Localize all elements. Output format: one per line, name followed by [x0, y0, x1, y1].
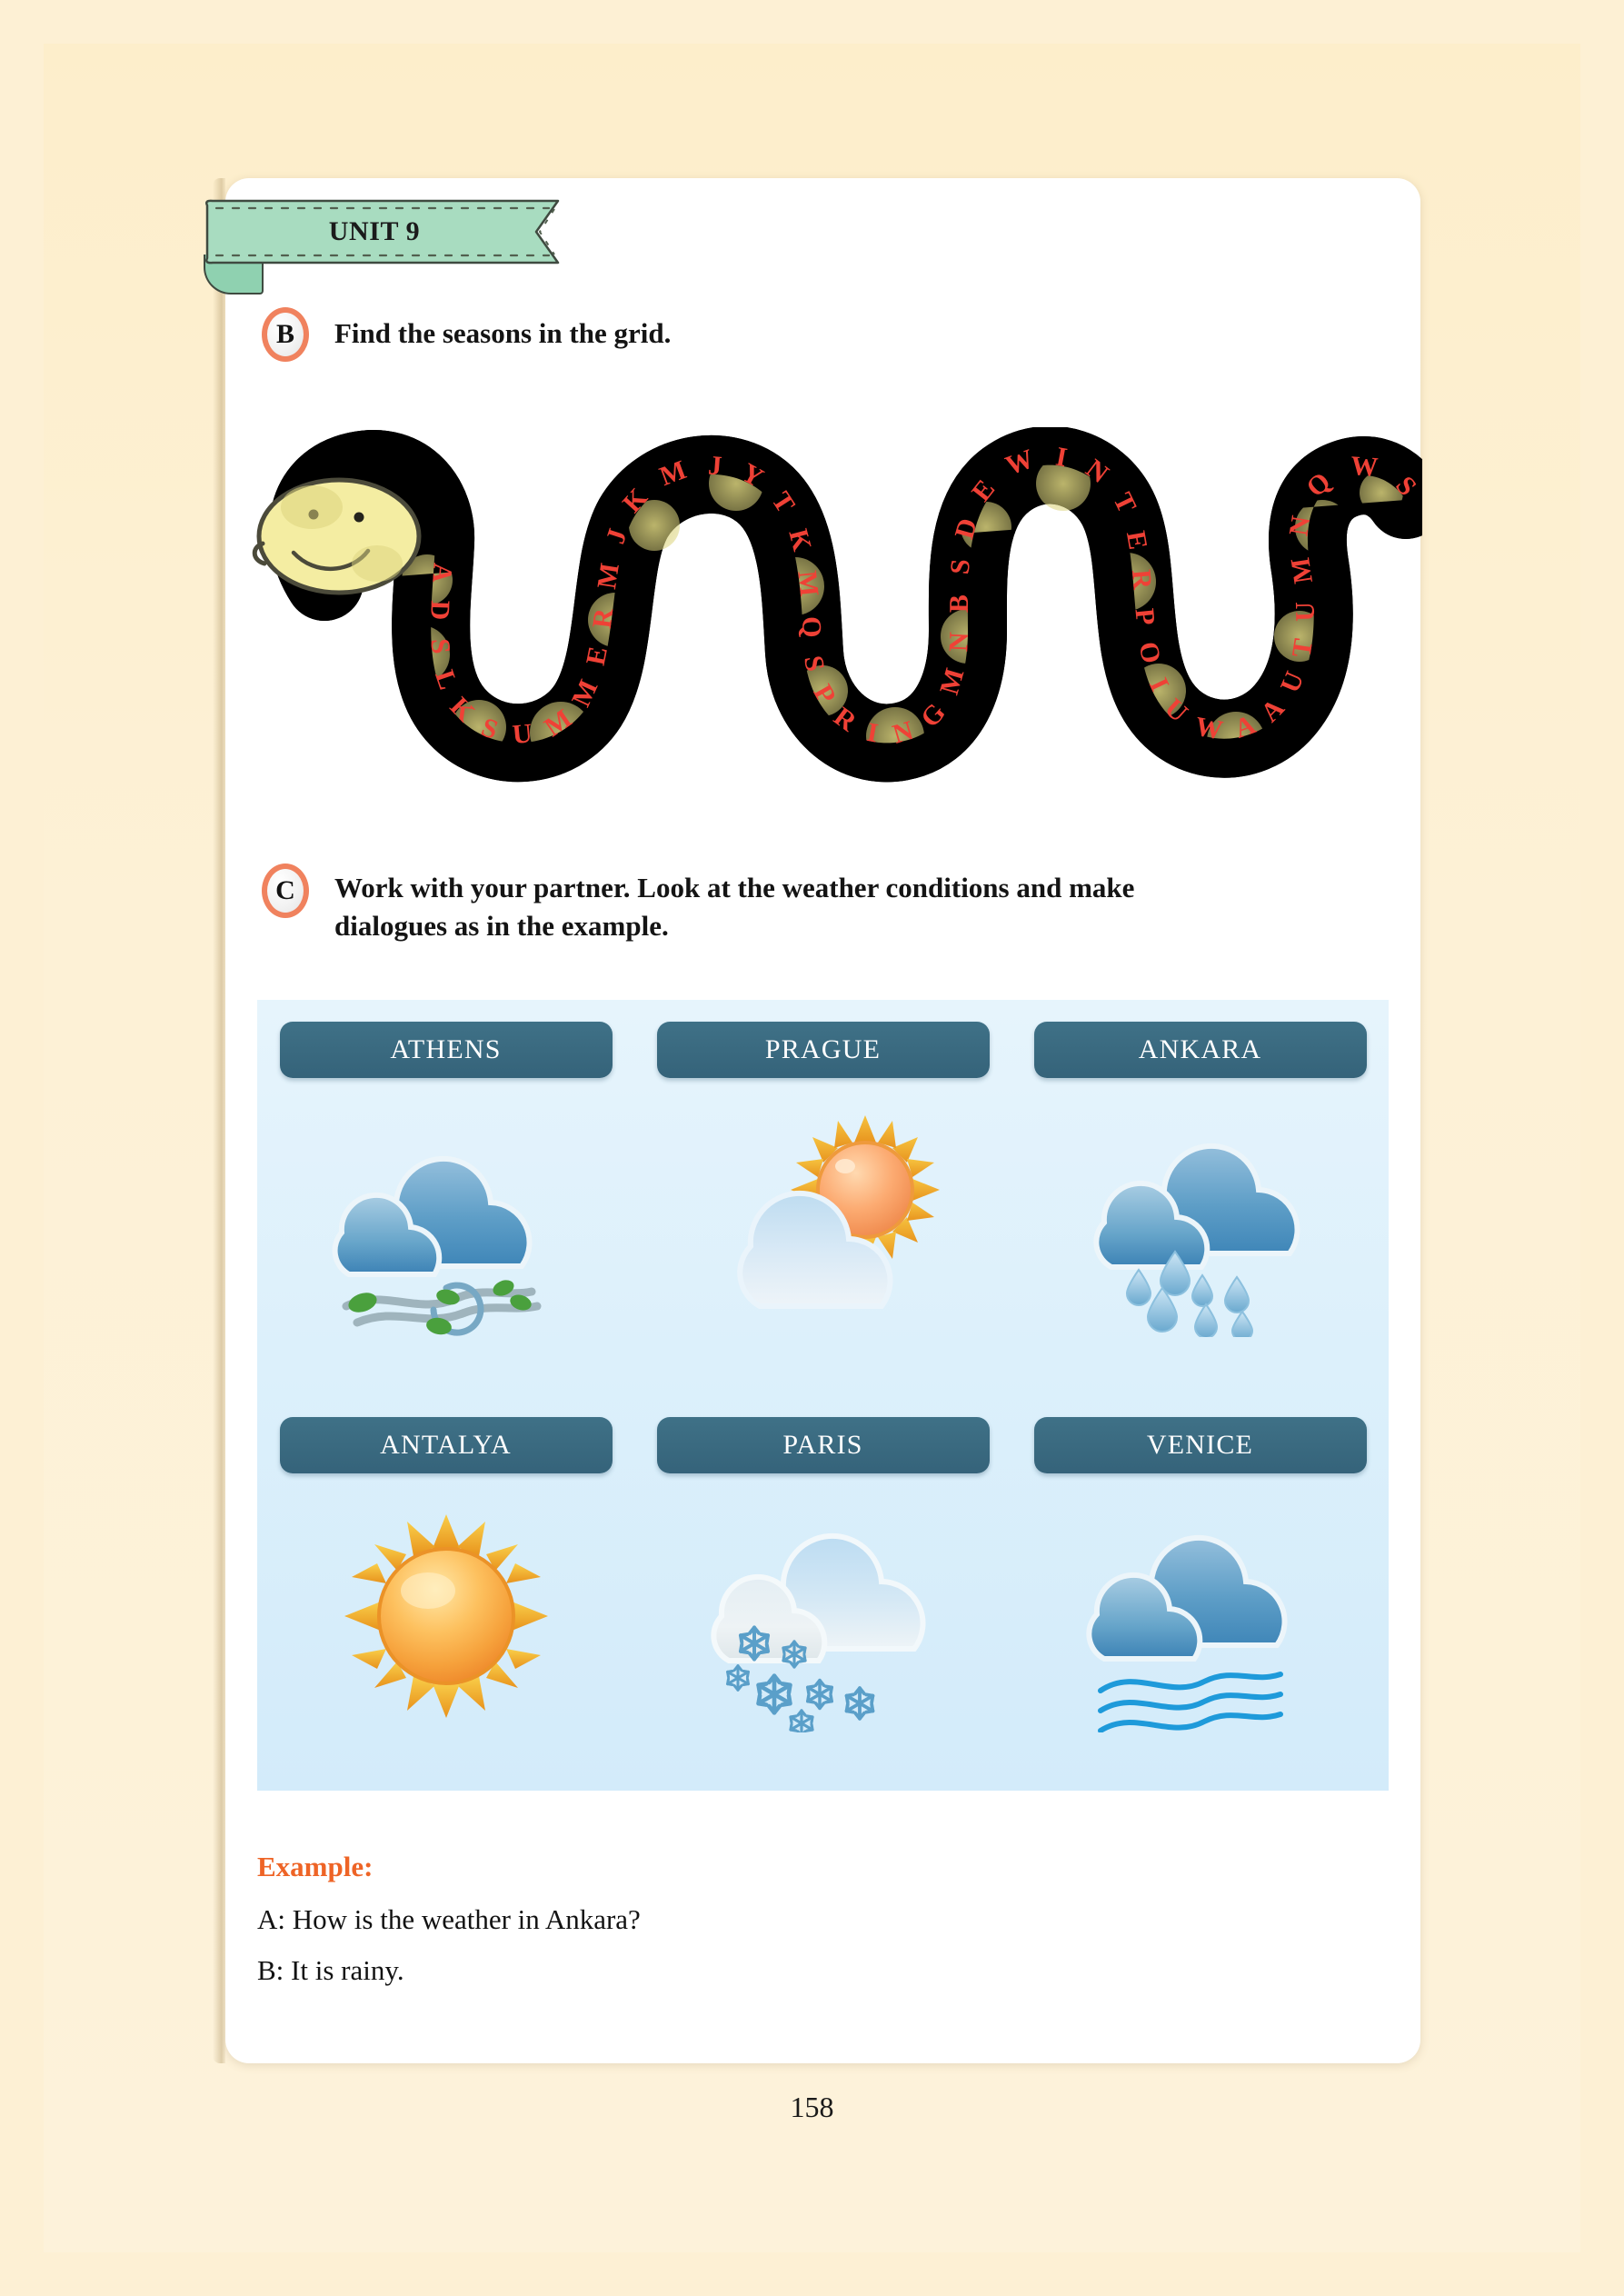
- exercise-c-line-2: dialogues as in the example.: [334, 907, 1384, 945]
- weather-panel: ATHENS: [257, 1000, 1389, 1791]
- page-number: 158: [0, 2091, 1624, 2124]
- cloud-wind-icon: [283, 1087, 610, 1360]
- exercise-b-instruction: Find the seasons in the grid.: [334, 307, 671, 353]
- snake-illustration: A D S L K S U M M E R M J K M J Y T K M …: [241, 427, 1422, 800]
- weather-cell-prague[interactable]: PRAGUE: [634, 1000, 1011, 1395]
- weather-cell-ankara[interactable]: ANKARA: [1011, 1000, 1389, 1395]
- exercise-b-badge: B: [262, 307, 309, 362]
- weather-cell-athens[interactable]: ATHENS: [257, 1000, 634, 1395]
- sun-cloud-icon: [660, 1087, 987, 1360]
- cloud-rain-icon: [1037, 1087, 1364, 1360]
- exercise-b: B Find the seasons in the grid.: [262, 307, 1370, 362]
- cloud-snow-icon: [660, 1482, 987, 1755]
- snake-head: [254, 480, 419, 593]
- exercise-c-line-1: Work with your partner. Look at the weat…: [334, 869, 1384, 907]
- cloud-fog-icon: [1037, 1482, 1364, 1755]
- unit-label: UNIT 9: [202, 198, 547, 265]
- weather-cell-venice[interactable]: VENICE: [1011, 1395, 1389, 1791]
- exercise-c-badge: C: [262, 863, 309, 918]
- exercise-c-instruction: Work with your partner. Look at the weat…: [334, 863, 1384, 945]
- example-line-a: A: How is the weather in Ankara?: [257, 1902, 1257, 1938]
- sun-icon: [283, 1482, 610, 1755]
- city-chip-paris[interactable]: PARIS: [657, 1417, 990, 1473]
- unit-banner: UNIT 9: [202, 198, 583, 269]
- page-background: UNIT 9 B Find the seasons in the grid.: [0, 0, 1624, 2296]
- weather-cell-antalya[interactable]: ANTALYA: [257, 1395, 634, 1791]
- example-block: Example: A: How is the weather in Ankara…: [257, 1851, 1257, 2004]
- city-chip-prague[interactable]: PRAGUE: [657, 1022, 990, 1078]
- example-line-b: B: It is rainy.: [257, 1952, 1257, 1989]
- city-chip-venice[interactable]: VENICE: [1034, 1417, 1367, 1473]
- city-chip-antalya[interactable]: ANTALYA: [280, 1417, 613, 1473]
- city-chip-ankara[interactable]: ANKARA: [1034, 1022, 1367, 1078]
- example-title: Example:: [257, 1851, 1257, 1883]
- snake-word-search: A D S L K S U M M E R M J K M J Y T K M …: [241, 427, 1422, 800]
- city-chip-athens[interactable]: ATHENS: [280, 1022, 613, 1078]
- weather-cell-paris[interactable]: PARIS: [634, 1395, 1011, 1791]
- exercise-c: C Work with your partner. Look at the we…: [262, 863, 1393, 945]
